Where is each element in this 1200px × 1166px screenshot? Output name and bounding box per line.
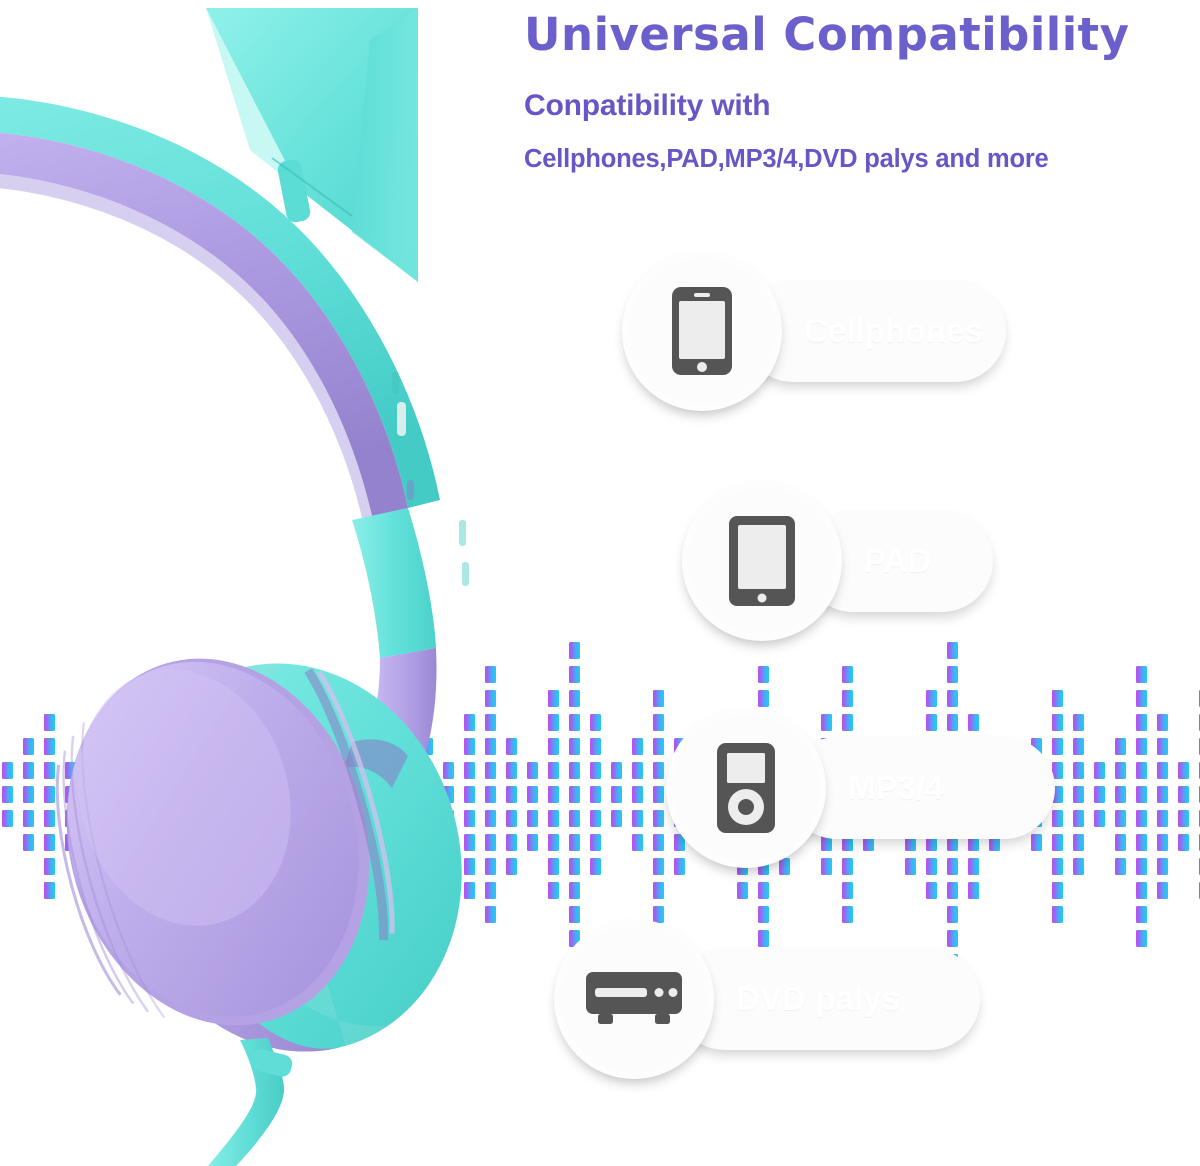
badge-icon-circle-dvd [560, 925, 708, 1073]
dvd-player-icon [584, 970, 684, 1028]
badge-pill-dvd[interactable]: DVD palys [682, 956, 972, 1042]
compatibility-badge-dvd[interactable]: DVD palys [560, 925, 972, 1073]
mp3-player-icon [715, 741, 777, 835]
badge-pill-mp34[interactable]: MP3/4 [794, 745, 1047, 831]
compatibility-infographic: Universal Compatibility Conpatibility wi… [0, 0, 1200, 1166]
compatibility-badge-pad[interactable]: PAD [688, 487, 985, 635]
smartphone-icon [670, 285, 734, 377]
tablet-icon [727, 514, 797, 608]
compatibility-badge-mp34[interactable]: MP3/4 [672, 714, 1047, 862]
page-title: Universal Compatibility [524, 8, 1200, 63]
badge-label-dvd: DVD palys [736, 980, 900, 1018]
compatibility-badge-cellphones[interactable]: Cellphones [628, 257, 998, 405]
badge-icon-circle-cellphones [628, 257, 776, 405]
badge-label-cellphones: Cellphones [804, 312, 983, 350]
badge-icon-circle-mp34 [672, 714, 820, 862]
headline-block: Universal Compatibility Conpatibility wi… [524, 8, 1200, 174]
badge-label-pad: PAD [864, 542, 932, 580]
badge-pill-cellphones[interactable]: Cellphones [750, 288, 998, 374]
subtitle-line-1: Conpatibility with [524, 89, 1200, 123]
subtitle-line-2: Cellphones,PAD,MP3/4,DVD palys and more [524, 145, 1200, 174]
badge-label-mp34: MP3/4 [848, 769, 944, 807]
badge-icon-circle-pad [688, 487, 836, 635]
